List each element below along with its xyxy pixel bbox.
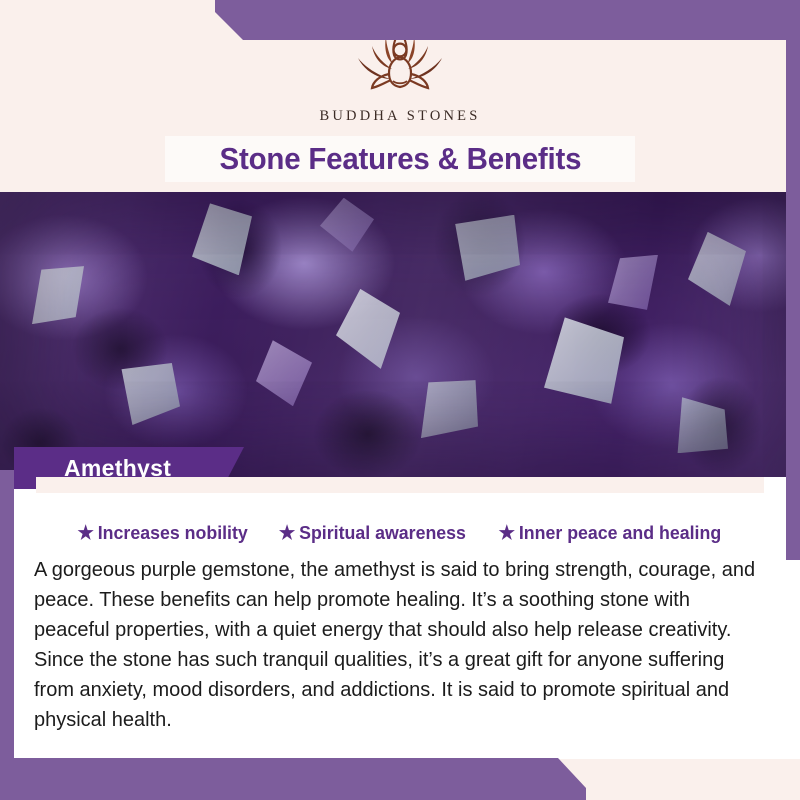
bottom-corner-band xyxy=(0,758,800,800)
benefit-label: Inner peace and healing xyxy=(519,522,721,544)
title-panel: Stone Features & Benefits xyxy=(165,136,635,182)
star-icon: ★ xyxy=(499,524,515,543)
benefit-label: Increases nobility xyxy=(98,522,248,544)
content-section: ★ Increases nobility ★ Spiritual awarene… xyxy=(0,477,800,759)
star-icon: ★ xyxy=(279,524,295,543)
benefit-item: ★ Increases nobility xyxy=(78,522,248,544)
right-edge-strip xyxy=(786,0,800,560)
benefit-label: Spiritual awareness xyxy=(299,522,466,544)
benefits-list: ★ Increases nobility ★ Spiritual awarene… xyxy=(0,522,800,544)
divider-strip xyxy=(36,477,764,493)
left-edge-strip xyxy=(0,470,14,800)
benefit-item: ★ Spiritual awareness xyxy=(279,522,466,544)
brand-name: BUDDHA STONES xyxy=(320,108,481,125)
infographic-page: BUDDHA STONES Stone Features & Benefits … xyxy=(0,0,800,800)
benefit-item: ★ Inner peace and healing xyxy=(499,522,722,544)
page-title: Stone Features & Benefits xyxy=(219,141,581,177)
amethyst-hero-image xyxy=(0,192,800,477)
description-text: A gorgeous purple gemstone, the amethyst… xyxy=(34,555,759,735)
star-icon: ★ xyxy=(78,524,94,543)
